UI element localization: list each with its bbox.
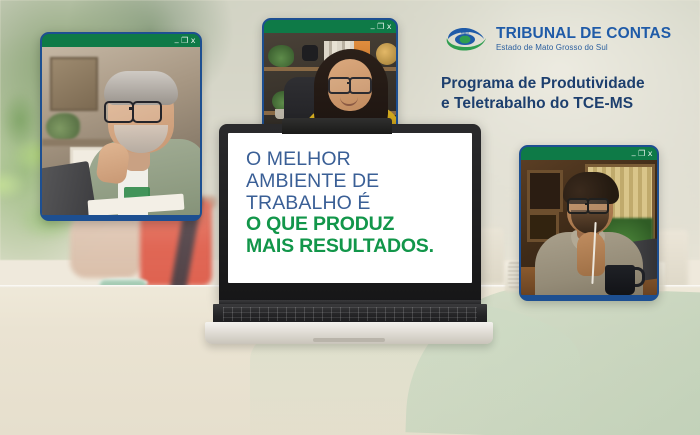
close-icon[interactable]: x (648, 150, 653, 158)
minimize-icon[interactable]: _ (632, 148, 637, 156)
participant-2-plant-top (268, 45, 294, 67)
window-3-video-feed (521, 160, 657, 295)
laptop-lid: O MELHOR AMBIENTE DE TRABALHO É O QUE PR… (219, 124, 481, 304)
participant-1-wall-art (50, 57, 98, 111)
brand-subtitle: Estado de Mato Grosso do Sul (496, 43, 671, 53)
participant-3-clasped-hands (577, 232, 605, 276)
participant-2-glasses-left (328, 77, 351, 94)
main-laptop: O MELHOR AMBIENTE DE TRABALHO É O QUE PR… (205, 124, 493, 342)
program-title: Programa de Produtividade e Teletrabalho… (441, 74, 691, 114)
participant-1-glasses-bridge (129, 107, 134, 110)
promo-banner: _ ❐ x _ (0, 0, 700, 435)
program-acronym: TCE-MS (573, 95, 633, 112)
participant-1-glasses-left (104, 101, 134, 123)
headline-line-5: MAIS RESULTADOS. (246, 236, 472, 258)
program-line-2-prefix: e Teletrabalho do (441, 95, 573, 112)
close-icon[interactable]: x (191, 37, 196, 45)
minimize-icon[interactable]: _ (175, 35, 180, 43)
participant-1-hand (95, 141, 130, 185)
minimize-icon[interactable]: _ (371, 21, 376, 29)
brand-block: TRIBUNAL DE CONTAS Estado de Mato Grosso… (444, 24, 688, 54)
headline-line-1: O MELHOR (246, 149, 472, 171)
maximize-icon[interactable]: ❐ (181, 37, 189, 45)
brand-title: TRIBUNAL DE CONTAS (496, 26, 671, 42)
program-line-2: e Teletrabalho do TCE-MS (441, 94, 691, 114)
brand-names: TRIBUNAL DE CONTAS Estado de Mato Grosso… (496, 26, 671, 53)
headline-line-3: TRABALHO É (246, 193, 472, 215)
window-2-titlebar[interactable]: _ ❐ x (264, 20, 396, 33)
maximize-icon[interactable]: ❐ (638, 150, 646, 158)
window-participant-2[interactable]: _ ❐ x (262, 18, 398, 140)
eye-swoosh-logo-icon (444, 24, 488, 54)
participant-2-laptop (282, 118, 392, 134)
window-participant-3[interactable]: _ ❐ x (519, 145, 659, 301)
window-participant-1[interactable]: _ ❐ x (40, 32, 202, 221)
close-icon[interactable]: x (387, 23, 392, 31)
brand-row: TRIBUNAL DE CONTAS Estado de Mato Grosso… (444, 24, 688, 54)
window-3-titlebar[interactable]: _ ❐ x (521, 147, 657, 160)
laptop-trackpad-edge (313, 338, 385, 342)
participant-3-glasses-bridge (585, 203, 588, 205)
headline-block: O MELHOR AMBIENTE DE TRABALHO É O QUE PR… (228, 133, 472, 258)
participant-3-wall-art (527, 170, 563, 212)
headline-line-4: O QUE PRODUZ (246, 214, 472, 236)
participant-3-glasses-right (587, 198, 609, 214)
participant-3-mug (605, 265, 635, 295)
participant-1-plant (46, 113, 80, 141)
program-line-1: Programa de Produtividade (441, 74, 691, 94)
window-1-video-feed (42, 47, 200, 215)
participant-2-glasses-bridge (347, 82, 350, 84)
headline-line-2: AMBIENTE DE (246, 171, 472, 193)
participant-1-glasses-right (132, 101, 162, 123)
window-1-titlebar[interactable]: _ ❐ x (42, 34, 200, 47)
participant-2-glasses-right (349, 77, 372, 94)
maximize-icon[interactable]: ❐ (377, 23, 385, 31)
laptop-screen[interactable]: O MELHOR AMBIENTE DE TRABALHO É O QUE PR… (228, 133, 472, 283)
participant-3-glasses-left (567, 198, 589, 214)
window-2-video-feed (264, 33, 396, 134)
laptop-keys (223, 307, 477, 321)
participant-1-hair (104, 71, 178, 105)
participant-2-camera (302, 45, 318, 61)
